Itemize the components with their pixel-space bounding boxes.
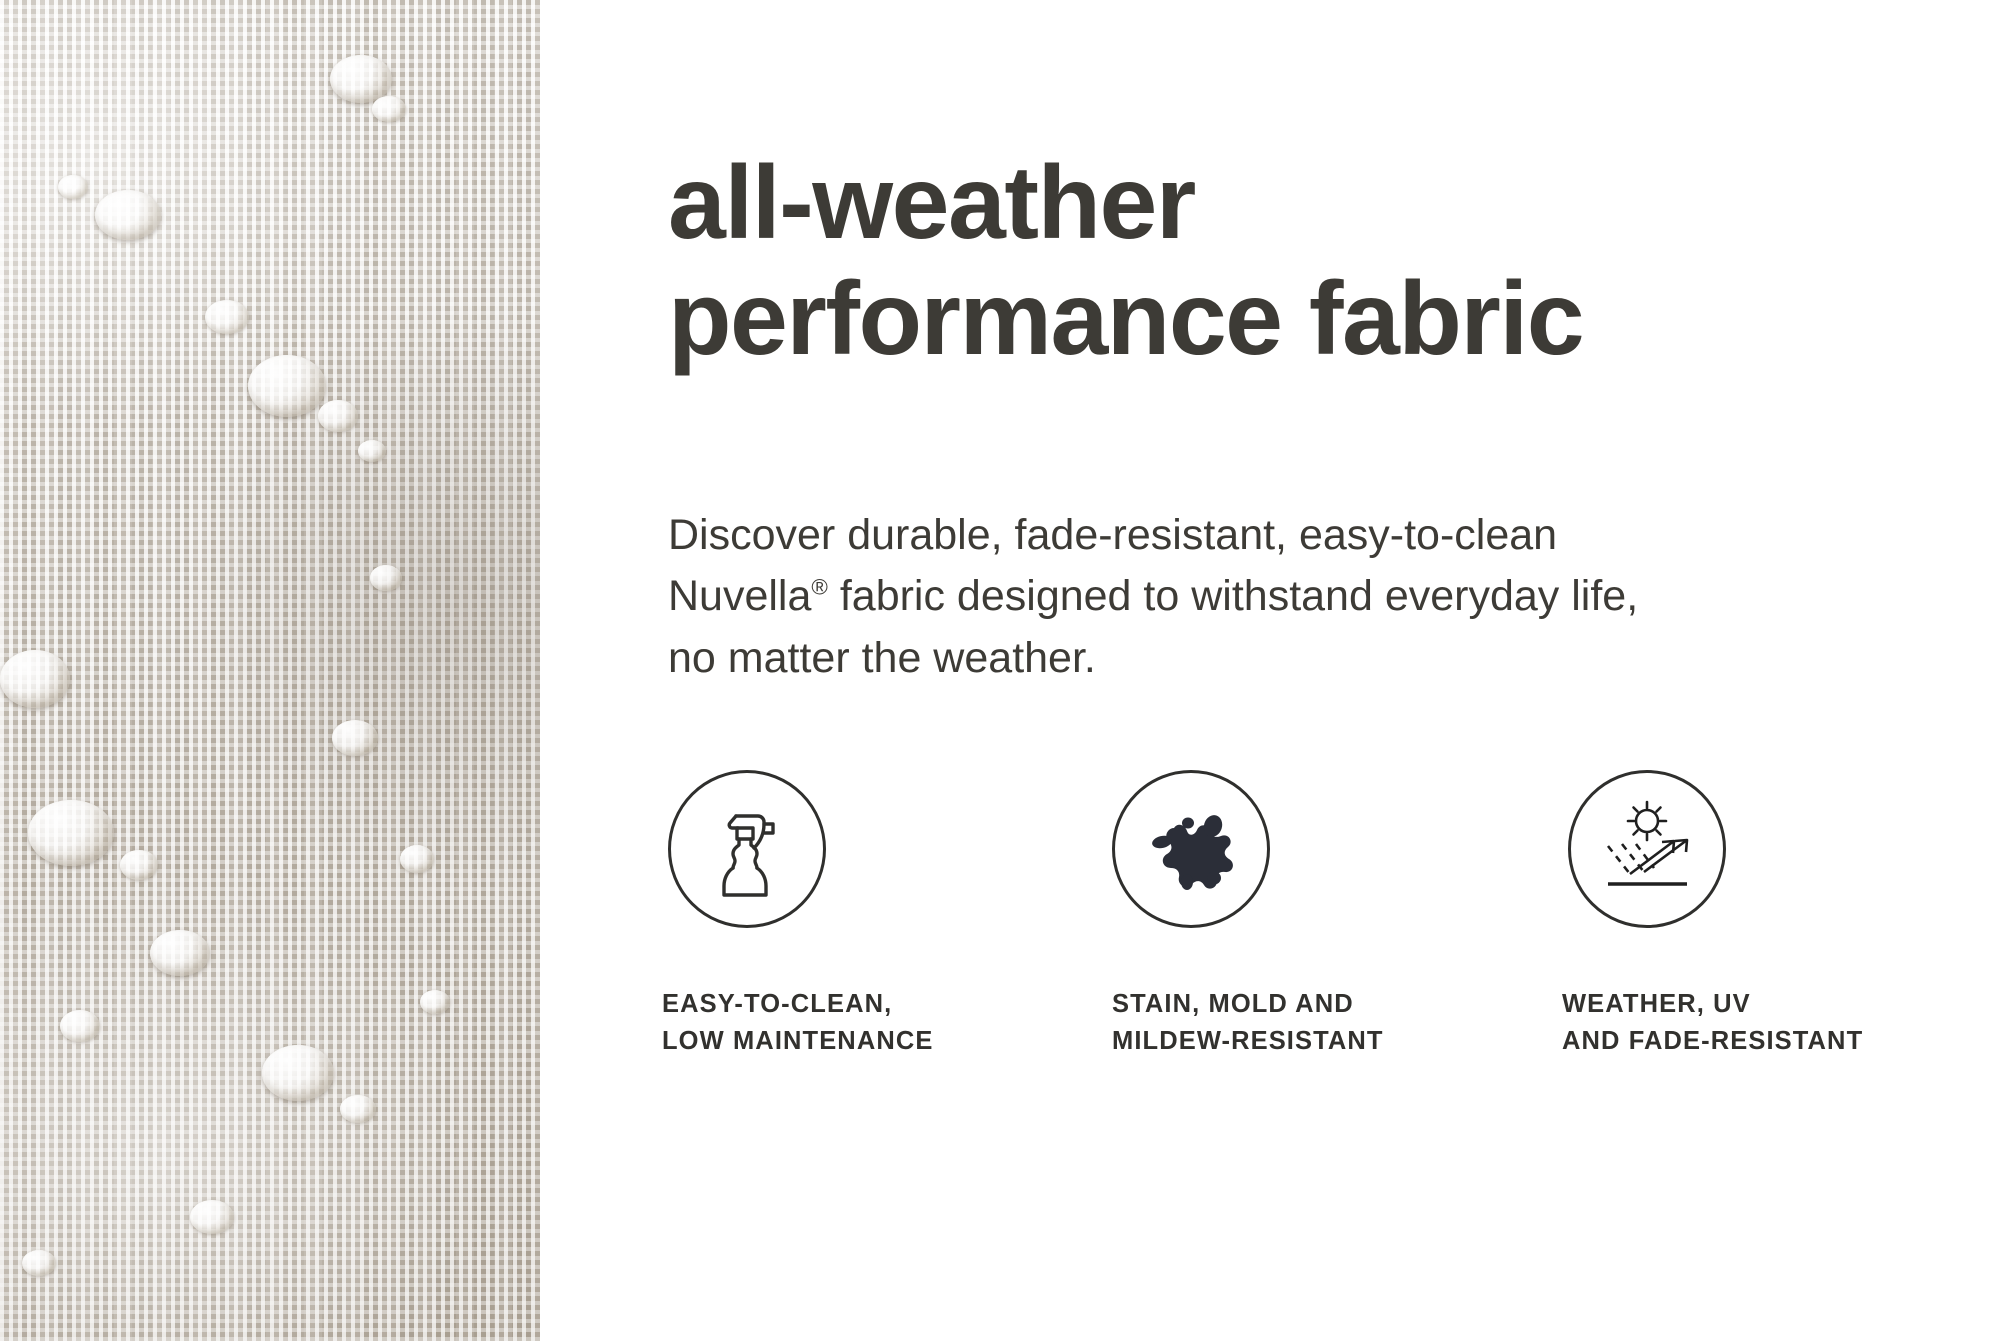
sun-uv-reflect-icon xyxy=(1592,794,1702,904)
water-droplet xyxy=(58,175,88,199)
feature-label-line-2: MILDEW-RESISTANT xyxy=(1112,1023,1384,1060)
feature-label-line-1: EASY-TO-CLEAN, xyxy=(662,986,933,1023)
feature-icon-circle xyxy=(668,770,826,928)
description-line-3: no matter the weather. xyxy=(668,628,1668,689)
water-droplet xyxy=(28,800,114,866)
water-droplet xyxy=(0,650,70,708)
feature-label-line-1: STAIN, MOLD AND xyxy=(1112,986,1384,1023)
description-line-2: Nuvella® fabric designed to withstand ev… xyxy=(668,566,1668,627)
headline-line-1: all-weather xyxy=(668,145,1998,261)
description-line-2-rest: fabric designed to withstand everyday li… xyxy=(828,572,1638,620)
water-droplet xyxy=(150,930,210,976)
water-droplet xyxy=(262,1045,334,1101)
water-droplet xyxy=(60,1010,100,1042)
water-droplet xyxy=(190,1200,234,1234)
registered-mark-icon: ® xyxy=(811,575,827,600)
water-droplet xyxy=(318,400,358,432)
feature-stain-resistant: STAIN, MOLD AND MILDEW-RESISTANT xyxy=(1112,770,1562,1060)
water-droplet xyxy=(358,440,386,462)
feature-label-line-2: AND FADE-RESISTANT xyxy=(1562,1023,1863,1060)
description-paragraph: Discover durable, fade-resistant, easy-t… xyxy=(668,505,1668,689)
water-droplet xyxy=(205,300,249,334)
water-droplet xyxy=(400,845,434,873)
feature-label: STAIN, MOLD AND MILDEW-RESISTANT xyxy=(1112,986,1384,1060)
page-title: all-weather performance fabric xyxy=(668,145,1998,378)
description-line-1: Discover durable, fade-resistant, easy-t… xyxy=(668,505,1668,566)
stain-splat-icon xyxy=(1136,794,1246,904)
feature-icon-circle xyxy=(1568,770,1726,928)
feature-icon-circle xyxy=(1112,770,1270,928)
water-droplet xyxy=(22,1250,56,1276)
feature-label-line-1: WEATHER, UV xyxy=(1562,986,1863,1023)
water-droplet xyxy=(95,190,161,240)
water-droplet xyxy=(420,990,450,1014)
water-droplet xyxy=(248,355,326,417)
all-weather-fabric-banner: all-weather performance fabric Discover … xyxy=(0,0,2010,1341)
water-droplet xyxy=(332,720,378,756)
water-droplet xyxy=(370,565,402,591)
feature-weather-uv-resistant: WEATHER, UV AND FADE-RESISTANT xyxy=(1562,770,2010,1060)
feature-label: WEATHER, UV AND FADE-RESISTANT xyxy=(1562,986,1863,1060)
water-droplet xyxy=(340,1095,376,1123)
content-panel: all-weather performance fabric Discover … xyxy=(540,0,2010,1341)
fabric-lighting-overlay xyxy=(0,0,540,1341)
water-droplet xyxy=(120,850,158,880)
headline-line-2: performance fabric xyxy=(668,261,1998,377)
feature-label: EASY-TO-CLEAN, LOW MAINTENANCE xyxy=(662,986,933,1060)
water-droplet xyxy=(372,96,406,122)
spray-bottle-icon xyxy=(692,794,802,904)
fabric-photo-panel xyxy=(0,0,540,1341)
brand-name: Nuvella xyxy=(668,572,811,620)
feature-easy-to-clean: EASY-TO-CLEAN, LOW MAINTENANCE xyxy=(662,770,1112,1060)
feature-label-line-2: LOW MAINTENANCE xyxy=(662,1023,933,1060)
feature-list: EASY-TO-CLEAN, LOW MAINTENANCE xyxy=(662,770,2010,1060)
